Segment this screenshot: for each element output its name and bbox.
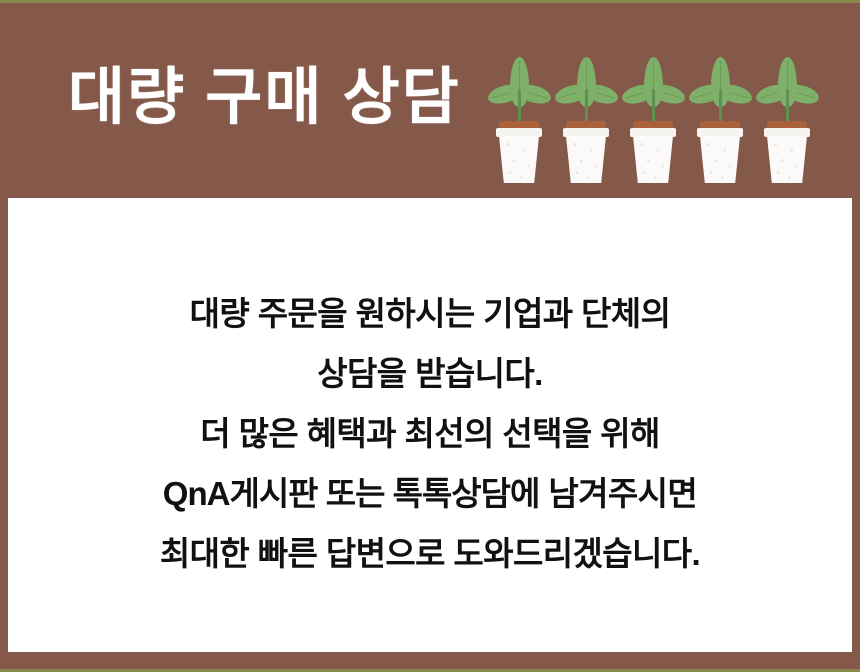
pot-rim (697, 128, 743, 137)
body-line-1: 대량 주문을 원하시는 기업과 단체의 (8, 284, 852, 344)
body-line-4-rest: 에 남겨주시면 (510, 475, 697, 512)
plant-pot (496, 121, 542, 183)
pot-body (499, 136, 539, 183)
pot-rim (630, 128, 676, 137)
body-copy: 대량 주문을 원하시는 기업과 단체의 상담을 받습니다. 더 많은 혜택과 최… (8, 284, 852, 584)
banner-header: 대량 구매 상담 (0, 3, 860, 198)
pot-body (700, 136, 740, 183)
body-line-3: 더 많은 혜택과 최선의 선택을 위해 (8, 404, 852, 464)
seedling-5 (756, 55, 818, 185)
pot-rim (496, 128, 542, 137)
pot-rim (563, 128, 609, 137)
pot-rim (764, 128, 810, 137)
plant-pot (764, 121, 810, 183)
plant-pot (630, 121, 676, 183)
body-line-5: 최대한 빠른 답변으로 도와드리겠습니다. (8, 524, 852, 584)
bulk-purchase-banner: 대량 구매 상담 (0, 0, 860, 672)
seedling-1 (488, 55, 550, 185)
seedling-2 (555, 55, 617, 185)
seedling-illustration-group (488, 55, 818, 185)
body-line-2: 상담을 받습니다. (8, 344, 852, 404)
seedling-4 (689, 55, 751, 185)
pot-body (633, 136, 673, 183)
plant-pot (697, 121, 743, 183)
top-rule (0, 0, 860, 3)
content-panel: 대량 주문을 원하시는 기업과 단체의 상담을 받습니다. 더 많은 혜택과 최… (8, 198, 852, 652)
body-line-4: QnA게시판 또는 톡톡상담에 남겨주시면 (8, 464, 852, 524)
seedling-3 (622, 55, 684, 185)
pot-body (767, 136, 807, 183)
plant-pot (563, 121, 609, 183)
channel-emphasis: QnA게시판 또는 톡톡상담 (163, 475, 510, 512)
pot-body (566, 136, 606, 183)
page-title: 대량 구매 상담 (68, 67, 461, 129)
